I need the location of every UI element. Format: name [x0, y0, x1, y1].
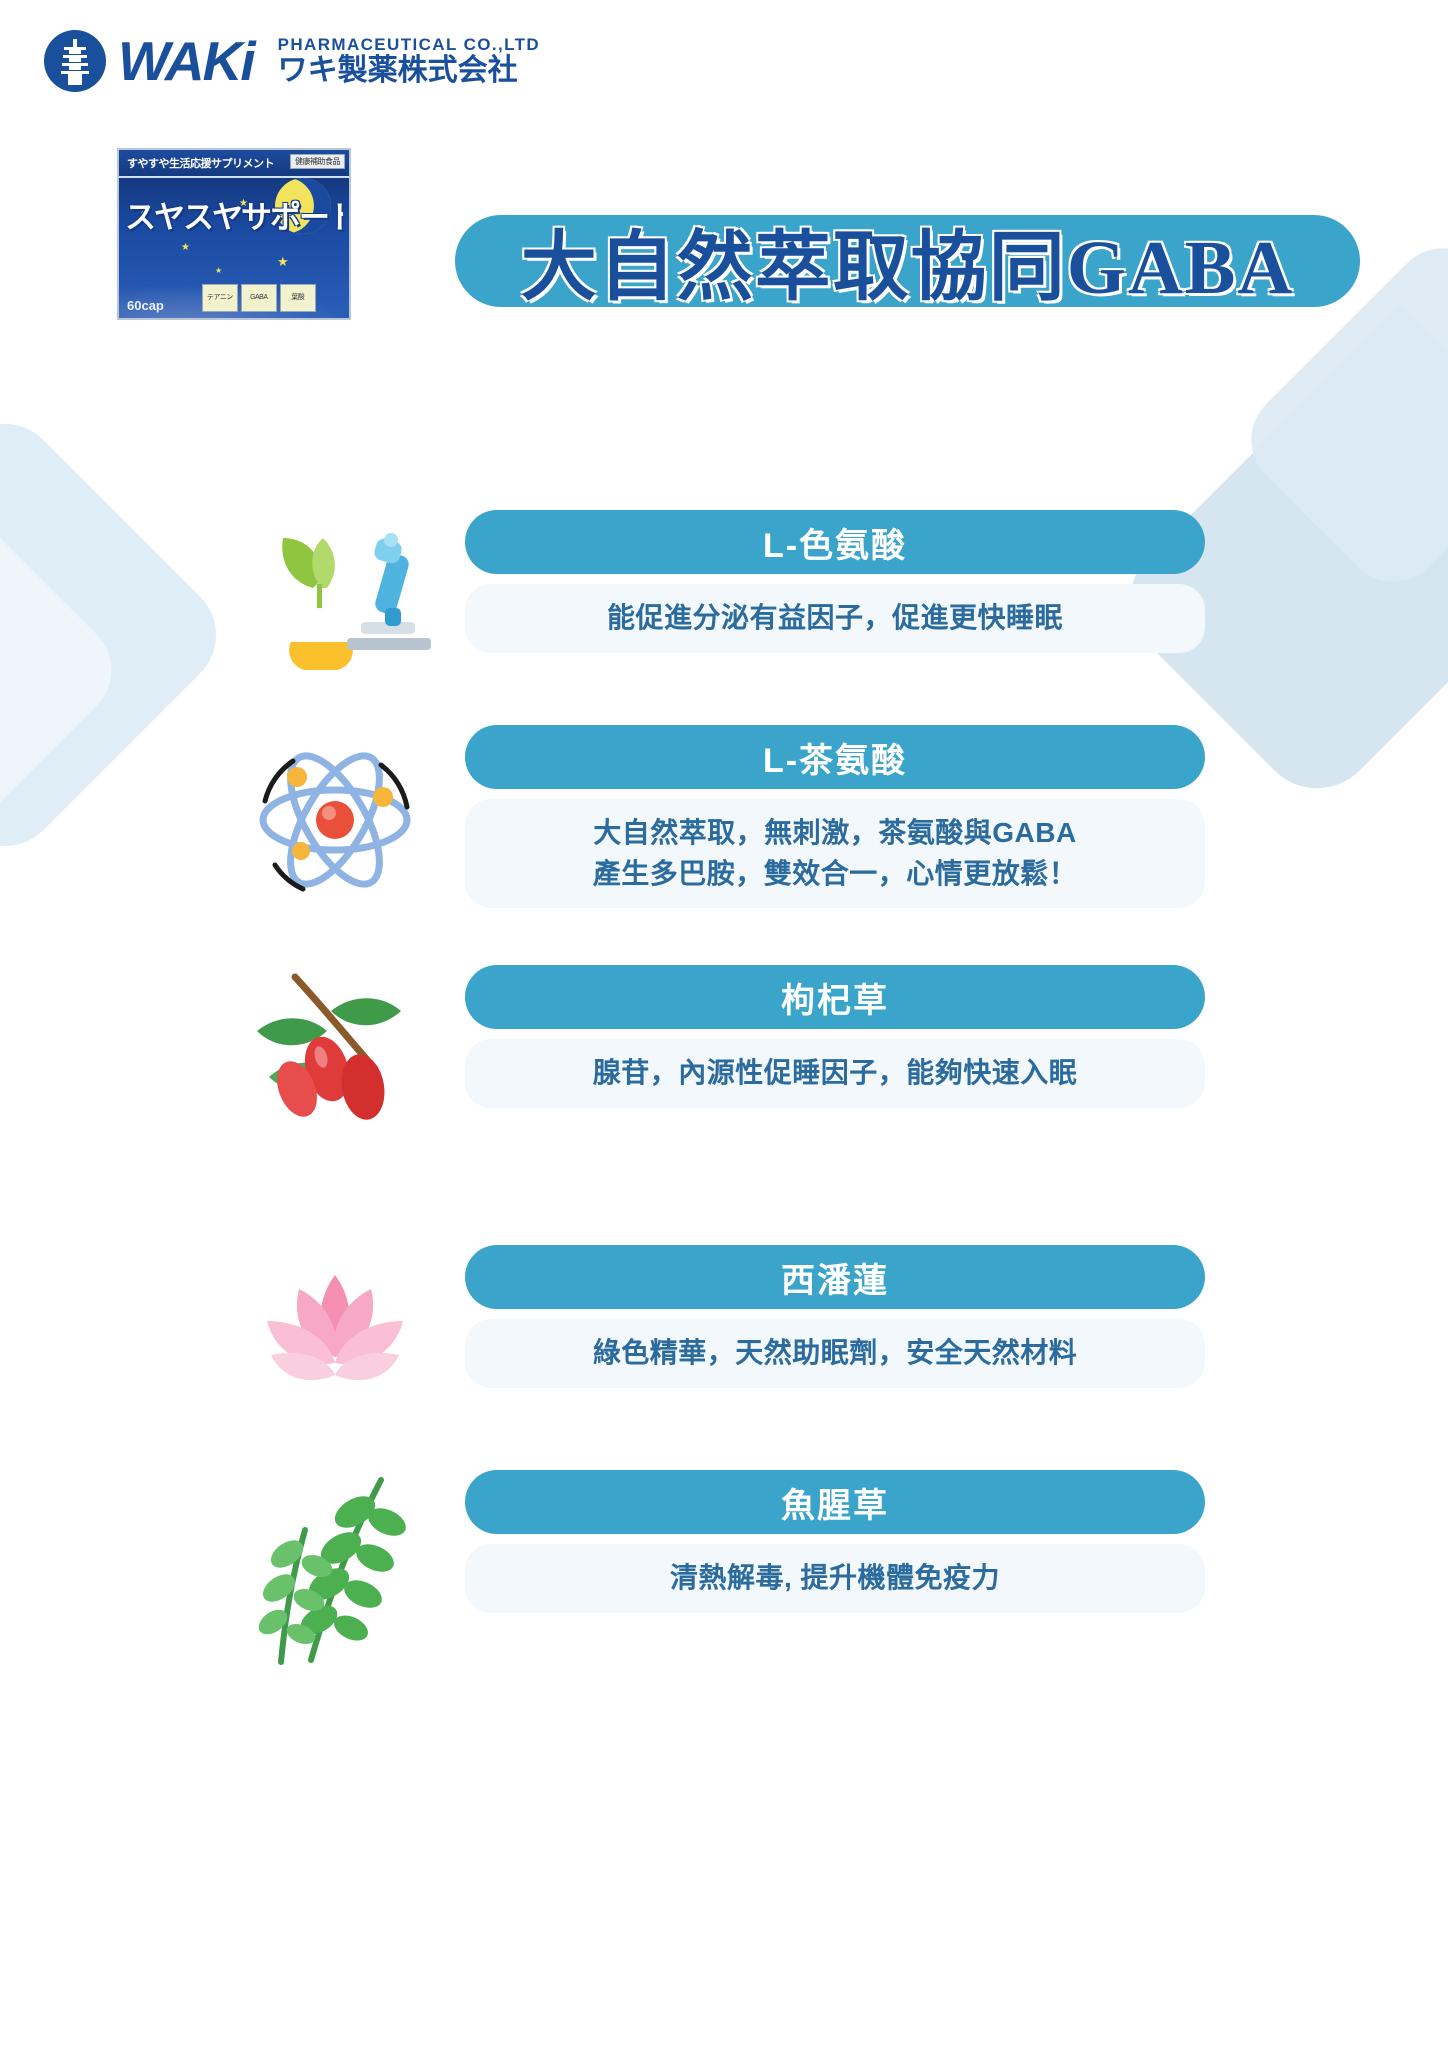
- ingredient-description-block: 大自然萃取，無刺激，茶氨酸與GABA 產生多巴胺，雙效合一，心情更放鬆！: [465, 799, 1205, 908]
- microscope-plant-icon: [235, 510, 465, 700]
- star-icon: ★: [181, 242, 190, 253]
- lotus-flower-icon: [235, 1245, 465, 1435]
- brand-header: WAKi PHARMACEUTICAL CO.,LTD ワキ製薬株式会社: [44, 30, 540, 92]
- company-name-japanese: ワキ製薬株式会社: [278, 55, 541, 87]
- ingredient-description-block: 能促進分泌有益因子，促進更快睡眠: [465, 584, 1205, 653]
- ingredient-row-2: L-茶氨酸 大自然萃取，無刺激，茶氨酸與GABA 產生多巴胺，雙效合一，心情更放…: [235, 725, 1205, 915]
- package-tagline: すやすや生活応援サプリメント: [127, 155, 274, 171]
- ingredient-description-line: 綠色精華，天然助眠劑，安全天然材料: [491, 1333, 1179, 1374]
- product-package-image: すやすや生活応援サプリメント 健康補助食品 ★ ★ ★ ★ ★ スヤスヤサポート…: [117, 148, 351, 320]
- waki-wordmark: WAKi: [118, 34, 254, 89]
- ingredient-name-pill: L-茶氨酸: [465, 725, 1205, 789]
- product-name: スヤスヤサポート: [125, 192, 343, 237]
- herb-leaf-icon: [235, 1470, 465, 1660]
- ingredient-name-pill: L-色氨酸: [465, 510, 1205, 574]
- infographic-page: WAKi PHARMACEUTICAL CO.,LTD ワキ製薬株式会社 すやす…: [0, 0, 1448, 2048]
- ingredient-name-pill: 枸杞草: [465, 965, 1205, 1029]
- ingredient-description-line: 大自然萃取，無刺激，茶氨酸與GABA: [491, 813, 1179, 854]
- ingredient-description-block: 腺苷，內源性促睡因子，能夠快速入眠: [465, 1039, 1205, 1108]
- star-icon: ★: [215, 266, 222, 275]
- package-chip: 葉酸: [280, 284, 316, 312]
- page-title: 大自然萃取協同GABA: [455, 205, 1360, 315]
- ingredient-name-pill: 西潘蓮: [465, 1245, 1205, 1309]
- ingredient-name-pill: 魚腥草: [465, 1470, 1205, 1534]
- atom-icon: [235, 725, 465, 915]
- goji-berry-icon: [235, 965, 465, 1155]
- pagoda-icon: [58, 39, 92, 85]
- package-chip: テアニン: [202, 284, 238, 312]
- ingredient-row-1: L-色氨酸 能促進分泌有益因子，促進更快睡眠: [235, 510, 1205, 700]
- ingredient-row-5: 魚腥草 清熱解毒, 提升機體免疫力: [235, 1470, 1205, 1660]
- ingredient-description-line: 腺苷，內源性促睡因子，能夠快速入眠: [491, 1053, 1179, 1094]
- ingredient-row-4: 西潘蓮 綠色精華，天然助眠劑，安全天然材料: [235, 1245, 1205, 1435]
- company-name-english: PHARMACEUTICAL CO.,LTD: [278, 36, 541, 54]
- ingredient-description-block: 綠色精華，天然助眠劑，安全天然材料: [465, 1319, 1205, 1388]
- waki-logo-mark: [44, 30, 106, 92]
- ingredient-description-line: 產生多巴胺，雙效合一，心情更放鬆！: [491, 854, 1179, 895]
- capsule-count: 60cap: [127, 298, 164, 313]
- package-ingredient-chips: テアニン GABA 葉酸: [202, 284, 316, 312]
- ingredient-row-3: 枸杞草 腺苷，內源性促睡因子，能夠快速入眠: [235, 965, 1205, 1155]
- package-badge: 健康補助食品: [290, 154, 345, 169]
- package-chip: GABA: [241, 284, 277, 312]
- star-icon: ★: [277, 254, 289, 270]
- ingredient-description-block: 清熱解毒, 提升機體免疫力: [465, 1544, 1205, 1613]
- ingredient-description-line: 清熱解毒, 提升機體免疫力: [491, 1558, 1179, 1599]
- ingredient-description-line: 能促進分泌有益因子，促進更快睡眠: [491, 598, 1179, 639]
